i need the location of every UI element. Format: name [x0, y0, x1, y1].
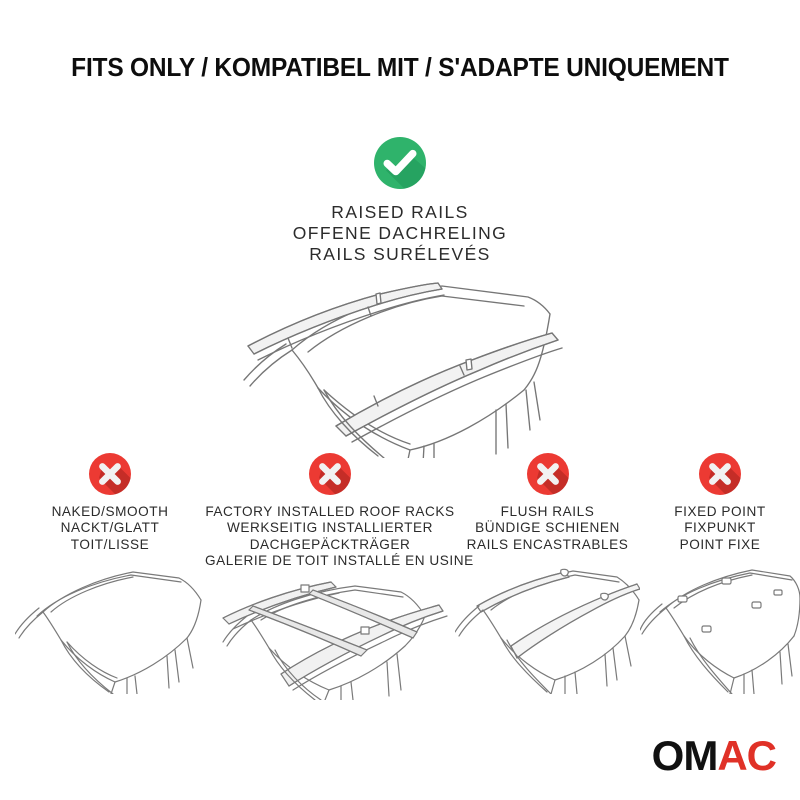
- x-circle-icon: [88, 452, 132, 496]
- car-roof-with-fixed-points-illustration: [640, 564, 800, 699]
- incompatible-label-en: NAKED/SMOOTH: [15, 504, 205, 520]
- compatible-labels: RAISED RAILS OFFENE DACHRELING RAILS SUR…: [0, 202, 800, 265]
- incompatible-item-factory-roof-racks: FACTORY INSTALLED ROOF RACKS WERKSEITIG …: [205, 452, 455, 570]
- compatible-label-en: RAISED RAILS: [0, 202, 800, 223]
- incompatible-label-fr: GALERIE DE TOIT INSTALLÉ EN USINE: [205, 553, 455, 569]
- check-circle-icon: [373, 136, 427, 190]
- incompatible-label-de: NACKT/GLATT: [15, 520, 205, 536]
- incompatible-label-de-2: DACHGEPÄCKTRÄGER: [205, 537, 455, 553]
- incompatible-label-en: FIXED POINT: [640, 504, 800, 520]
- incompatible-label-de: FIXPUNKT: [640, 520, 800, 536]
- incompatible-item-fixed-point: FIXED POINT FIXPUNKT POINT FIXE: [640, 452, 800, 553]
- x-circle-icon: [526, 452, 570, 496]
- incompatible-labels: FLUSH RAILS BÜNDIGE SCHIENEN RAILS ENCAS…: [455, 504, 640, 553]
- logo-text-ac: AC: [717, 736, 776, 776]
- logo-text-om: OM: [652, 736, 718, 776]
- x-circle-icon: [698, 452, 742, 496]
- car-roof-with-raised-rails-illustration: [228, 278, 576, 458]
- compatible-section: RAISED RAILS OFFENE DACHRELING RAILS SUR…: [0, 136, 800, 265]
- incompatible-label-fr: TOIT/LISSE: [15, 537, 205, 553]
- page-title: FITS ONLY / KOMPATIBEL MIT / S'ADAPTE UN…: [16, 54, 784, 83]
- car-roof-with-flush-rails-illustration: [455, 564, 640, 699]
- incompatible-label-de-1: WERKSEITIG INSTALLIERTER: [205, 520, 455, 536]
- incompatible-labels: FIXED POINT FIXPUNKT POINT FIXE: [640, 504, 800, 553]
- compatible-label-de: OFFENE DACHRELING: [0, 223, 800, 244]
- incompatible-label-en: FLUSH RAILS: [455, 504, 640, 520]
- incompatible-labels: FACTORY INSTALLED ROOF RACKS WERKSEITIG …: [205, 504, 455, 570]
- car-roof-naked-smooth-illustration: [15, 564, 205, 699]
- incompatible-labels: NAKED/SMOOTH NACKT/GLATT TOIT/LISSE: [15, 504, 205, 553]
- incompatible-label-de: BÜNDIGE SCHIENEN: [455, 520, 640, 536]
- car-roof-with-factory-crossbars-illustration: [205, 580, 455, 705]
- omac-logo: OMAC: [652, 736, 776, 776]
- incompatible-label-en: FACTORY INSTALLED ROOF RACKS: [205, 504, 455, 520]
- incompatible-label-fr: POINT FIXE: [640, 537, 800, 553]
- compatible-label-fr: RAILS SURÉLEVÉS: [0, 244, 800, 265]
- incompatible-label-fr: RAILS ENCASTRABLES: [455, 537, 640, 553]
- incompatible-item-flush-rails: FLUSH RAILS BÜNDIGE SCHIENEN RAILS ENCAS…: [455, 452, 640, 553]
- x-circle-icon: [308, 452, 352, 496]
- incompatible-item-naked-smooth: NAKED/SMOOTH NACKT/GLATT TOIT/LISSE: [15, 452, 205, 553]
